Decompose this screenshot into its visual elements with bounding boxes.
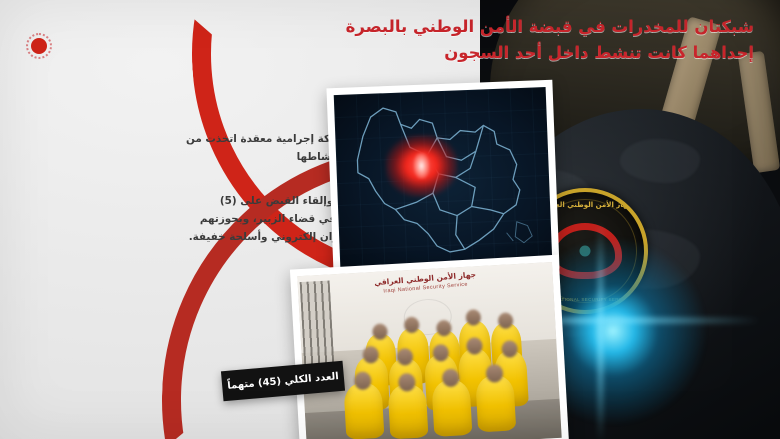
map-hotspot-core: [413, 152, 430, 179]
badge-label: العدد الكلي (45) متهماً: [227, 371, 339, 392]
patch-pupil-icon: [580, 246, 591, 257]
detainees-image: جهاز الأمن الوطني العراقي Iraqi National…: [297, 262, 561, 439]
page-title: شبكتان للمخدرات في قبضة الأمن الوطني بال…: [284, 14, 754, 65]
lens-flare-streak-vertical: [598, 222, 603, 439]
infographic-root: جهاز الأمن الوطني العراقي IRAQI NATIONAL…: [0, 0, 780, 439]
map-photo-card: [326, 80, 559, 278]
headline-line-1: شبكتان للمخدرات في قبضة الأمن الوطني بال…: [284, 14, 754, 40]
corner-logo-icon: [26, 33, 52, 59]
map-image: [334, 87, 553, 270]
detainees-photo-card: جهاز الأمن الوطني العراقي Iraqi National…: [290, 255, 569, 439]
headline-line-2: إحداهما كانت تنشط داخل أحد السجون: [284, 40, 754, 66]
corner-logo-blob-icon: [31, 38, 47, 54]
